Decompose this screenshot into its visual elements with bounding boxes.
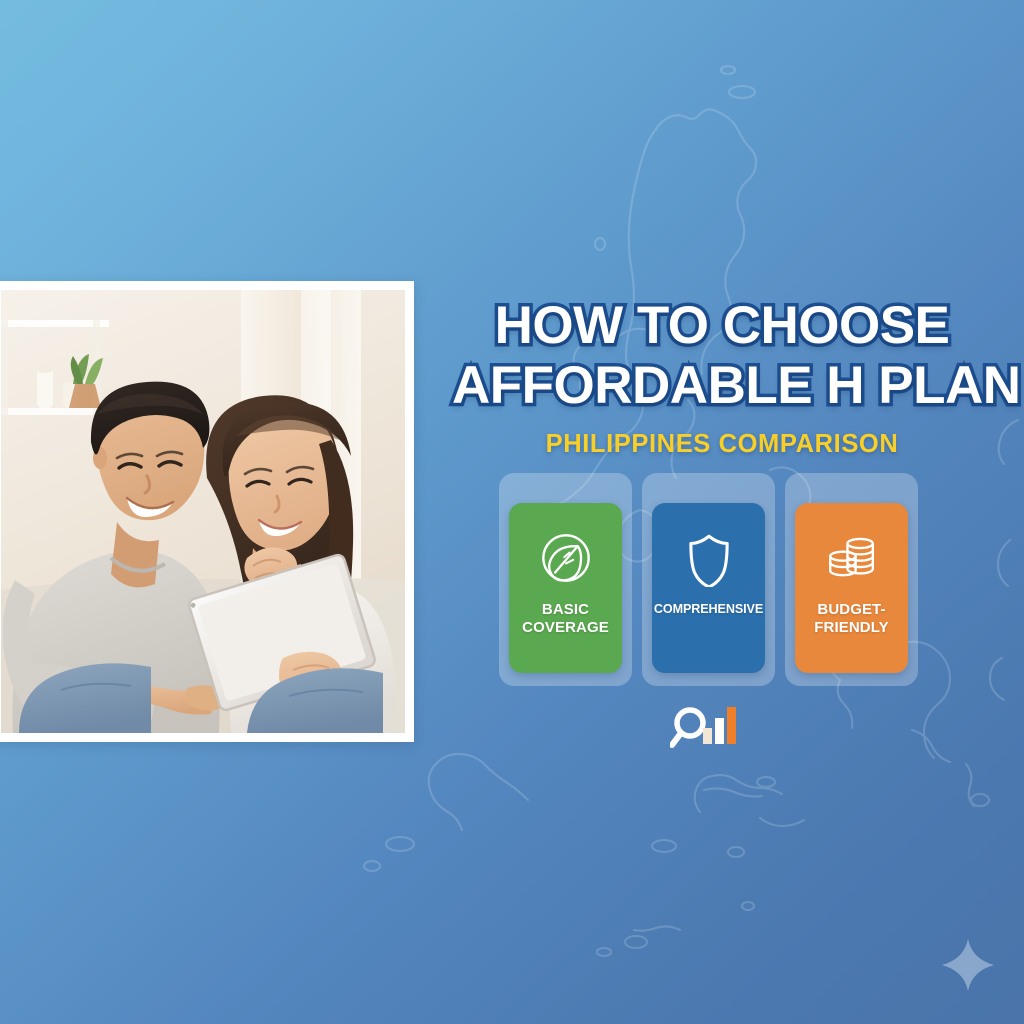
leaf-in-circle-icon bbox=[537, 529, 595, 587]
card-label-budget-friendly: BUDGET- FRIENDLY bbox=[811, 601, 891, 636]
hero-photo-frame bbox=[0, 281, 414, 742]
card-label-basic-coverage: BASIC COVERAGE bbox=[519, 601, 612, 636]
card-panel-basic-coverage[interactable]: BASIC COVERAGE bbox=[499, 473, 632, 686]
subtitle: PHILIPPINES COMPARISON bbox=[452, 430, 992, 459]
coin-stacks-icon bbox=[823, 529, 881, 587]
card-label-comprehensive: COMPREHENSIVE bbox=[651, 601, 766, 619]
card-panel-budget-friendly[interactable]: BUDGET- FRIENDLY bbox=[785, 473, 918, 686]
poster-canvas: HOW TO CHOOSE AFFORDABLE H PLAN PHILIPPI… bbox=[0, 0, 1024, 1024]
plan-type-cards: BASIC COVERAGE COMPREHENSIVE bbox=[499, 473, 918, 686]
headline-line-2: AFFORDABLE H PLAN bbox=[452, 356, 992, 416]
magnifier-bar-chart-logo[interactable] bbox=[670, 702, 746, 752]
card-budget-friendly[interactable]: BUDGET- FRIENDLY bbox=[795, 503, 908, 673]
headline-line-1: HOW TO CHOOSE bbox=[452, 296, 992, 356]
card-panel-comprehensive[interactable]: COMPREHENSIVE bbox=[642, 473, 775, 686]
four-point-star-icon bbox=[940, 937, 996, 993]
hero-photo bbox=[1, 290, 405, 733]
headline-block: HOW TO CHOOSE AFFORDABLE H PLAN PHILIPPI… bbox=[452, 296, 992, 459]
card-basic-coverage[interactable]: BASIC COVERAGE bbox=[509, 503, 622, 673]
shield-icon bbox=[680, 529, 738, 587]
card-comprehensive[interactable]: COMPREHENSIVE bbox=[652, 503, 765, 673]
